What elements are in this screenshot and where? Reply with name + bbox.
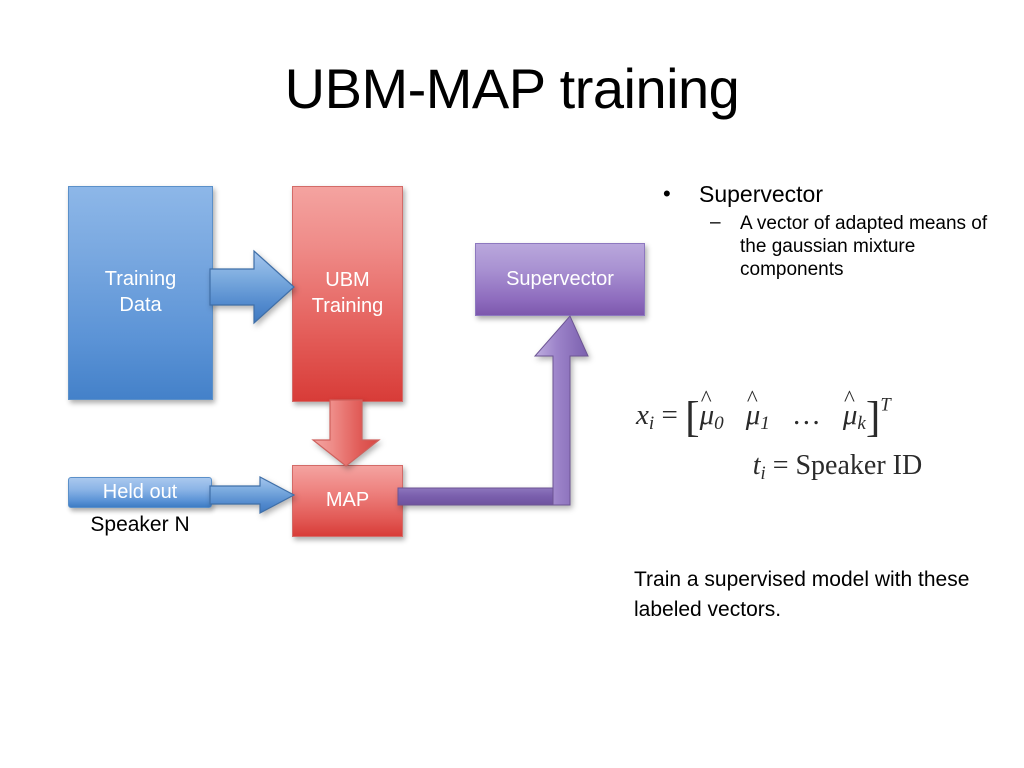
formula-term-muk-hat: ^ <box>844 386 855 413</box>
formula-close-bracket: ] <box>866 393 881 441</box>
flow-box-ubm-training-line1: UBM <box>325 268 369 294</box>
formula-term-ellipsis: … <box>792 399 821 431</box>
flow-box-held-out-line1: Held out <box>103 480 178 506</box>
arrow-training-data-to-ubm-icon <box>210 247 296 329</box>
page-title: UBM-MAP training <box>0 58 1024 120</box>
flow-box-map-line1: MAP <box>326 488 369 514</box>
formula-term-mu1-hat: ^ <box>747 386 758 413</box>
formula-lhs-sub: i <box>649 413 654 434</box>
flow-box-ubm-training[interactable]: UBM Training <box>292 186 403 402</box>
arrow-ubm-to-map-icon <box>312 400 384 468</box>
formula-open-bracket: [ <box>685 393 700 441</box>
formula-term-mu0: ^μ <box>700 399 715 432</box>
flow-box-training-data-line2: Data <box>119 293 161 319</box>
flow-box-map[interactable]: MAP <box>292 465 403 537</box>
formula-block: xi = [^μ0^μ1…^μk]T ti = Speaker ID <box>630 392 1015 484</box>
bullet-level2-description: – A vector of adapted means of the gauss… <box>655 212 1015 282</box>
formula-term-mu1-sub: 1 <box>760 413 770 434</box>
dash-marker-icon: – <box>710 211 721 234</box>
bottom-note: Train a supervised model with these labe… <box>634 565 1024 625</box>
formula-term-mu0-hat: ^ <box>701 386 712 413</box>
formula2-lhs-var: t <box>753 450 761 481</box>
bullet-marker-icon: • <box>663 181 671 207</box>
flow-box-held-out[interactable]: Held out <box>68 477 212 508</box>
formula-transpose: T <box>880 395 890 416</box>
bullet-list: • Supervector – A vector of adapted mean… <box>655 181 1015 282</box>
flow-box-supervector-line1: Supervector <box>506 267 614 293</box>
slide-canvas: UBM-MAP training Training Data UBM Train… <box>0 0 1024 768</box>
bullet-level1-supervector: • Supervector <box>655 181 1015 208</box>
flow-box-supervector[interactable]: Supervector <box>475 243 645 316</box>
flow-box-ubm-training-line2: Training <box>312 294 384 320</box>
formula2-rhs: Speaker ID <box>795 450 922 481</box>
caption-speaker-n: Speaker N <box>68 513 212 537</box>
flow-box-training-data-line1: Training <box>105 267 177 293</box>
formula-term-mu0-sub: 0 <box>714 413 724 434</box>
formula-lhs-var: x <box>636 399 649 431</box>
formula-term-muk: ^μ <box>843 399 858 432</box>
formula2-equals: = <box>773 450 789 481</box>
formula-line-target: ti = Speaker ID <box>630 450 1015 484</box>
formula2-lhs-sub: i <box>761 463 766 483</box>
arrow-map-to-supervector-icon <box>398 316 590 511</box>
flow-box-training-data[interactable]: Training Data <box>68 186 213 400</box>
bullet-level1-label: Supervector <box>699 181 823 207</box>
formula-equals: = <box>661 399 677 431</box>
formula-term-mu1: ^μ <box>746 399 761 432</box>
formula-term-muk-sub: k <box>857 413 866 434</box>
formula-line-supervector: xi = [^μ0^μ1…^μk]T <box>630 392 1015 442</box>
arrow-held-out-to-map-icon <box>210 476 296 516</box>
bullet-level2-label: A vector of adapted means of the gaussia… <box>740 213 987 280</box>
